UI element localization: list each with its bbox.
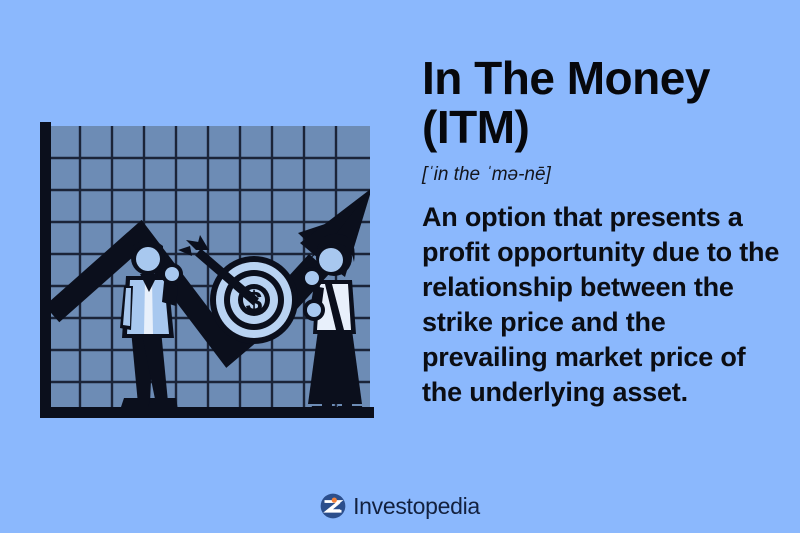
page-title: In The Money (ITM) [422, 54, 788, 152]
definition-text: An option that presents a profit opportu… [422, 200, 788, 411]
text-column: In The Money (ITM) [ˈin the ˈmə-nē] An o… [422, 54, 788, 410]
investopedia-logo: Investopedia [0, 493, 800, 519]
illustration: $ [0, 0, 400, 470]
definition-card: $ [0, 0, 800, 533]
pronunciation: [ˈin the ˈmə-nē] [422, 164, 788, 186]
x-axis [40, 407, 374, 418]
investopedia-mark-icon [320, 493, 346, 519]
y-axis [40, 122, 51, 418]
investopedia-wordmark: Investopedia [353, 495, 480, 518]
